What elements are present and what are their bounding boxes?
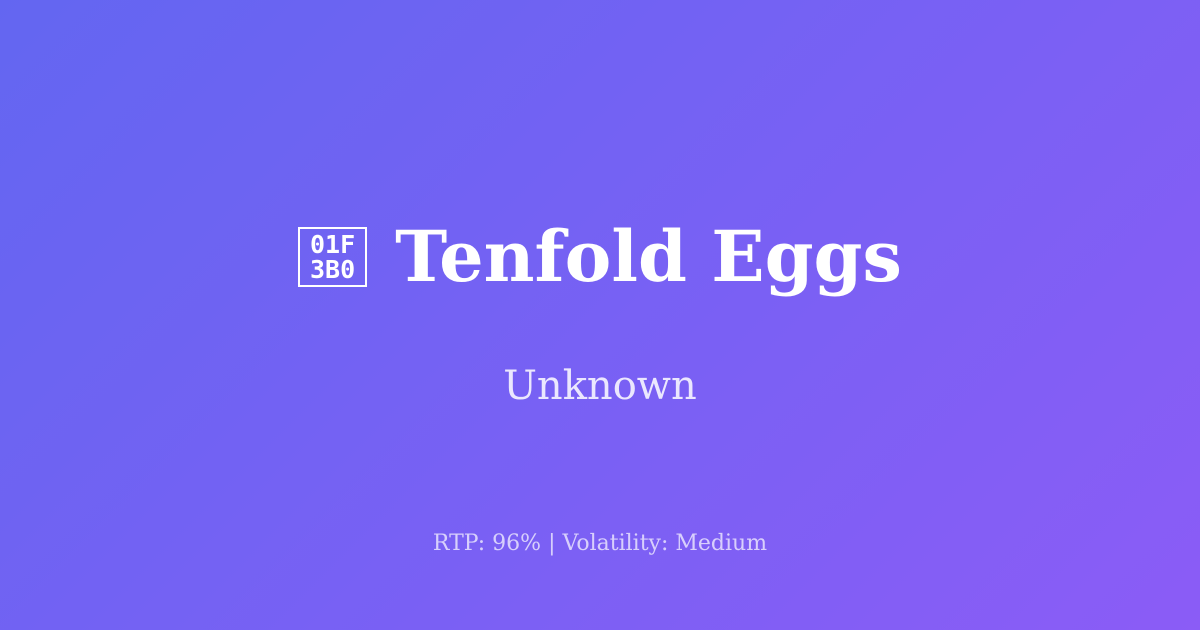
game-stats-line: RTP: 96% | Volatility: Medium <box>0 531 1200 557</box>
page-title: Tenfold Eggs <box>395 220 902 294</box>
game-og-card: 01F 3B0 Tenfold Eggs Unknown RTP: 96% | … <box>0 0 1200 630</box>
game-provider-label: Unknown <box>503 362 697 410</box>
slot-machine-icon-codepoint-upper: 01F <box>310 232 355 257</box>
slot-machine-icon-codepoint-lower: 3B0 <box>310 257 355 282</box>
game-title-row: 01F 3B0 Tenfold Eggs <box>298 220 902 294</box>
slot-machine-icon: 01F 3B0 <box>298 227 367 287</box>
